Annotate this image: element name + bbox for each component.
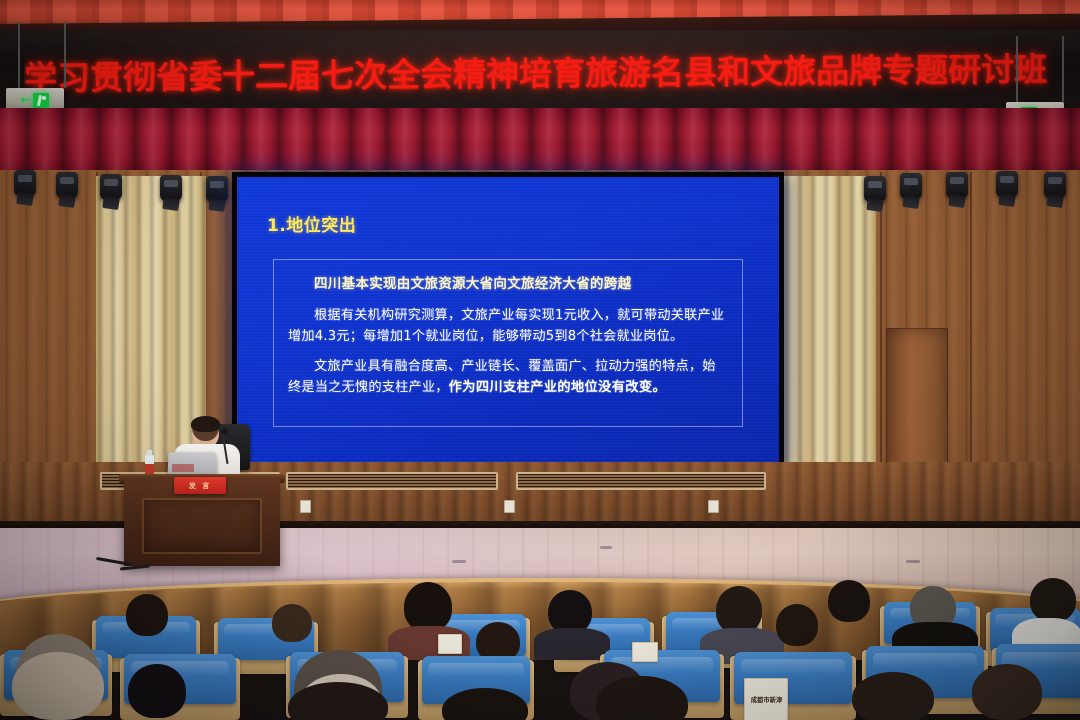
stage-spotlight (100, 174, 122, 200)
stage-spotlight (206, 176, 228, 202)
seat-name-card (632, 642, 658, 662)
floor-marking (600, 546, 612, 549)
exit-sign-left-hanger-b (64, 22, 66, 88)
seat-name-card-label: 成都市新津 (750, 696, 782, 705)
stage-spotlight (864, 176, 886, 202)
led-screen-frame: 1.地位突出 四川基本实现由文旅资源大省向文旅经济大省的跨越 根据有关机构研究测… (232, 172, 784, 470)
running-man-icon (33, 93, 49, 108)
side-curtain-left (96, 176, 206, 476)
stage-spotlight (1044, 172, 1066, 198)
audience-head (776, 604, 818, 646)
seat-name-card: 成都市新津 (744, 678, 788, 720)
banner-title: 学习贯彻省委十二届七次全会精神培育旅游名县和文旅品牌专题研讨班 (24, 37, 1064, 104)
audience-head (716, 586, 762, 634)
stage-spotlight (946, 172, 968, 198)
podium-nameplate-label: 发 言 (189, 481, 211, 491)
audience-head (828, 580, 870, 622)
wall-outlet (708, 500, 719, 513)
audience-head (1030, 578, 1076, 622)
podium-front-panel (142, 498, 262, 554)
exit-sign-right-hanger-a (1016, 36, 1018, 102)
stage-spotlight (56, 172, 78, 198)
speaker-hair (191, 416, 220, 432)
audience-head (972, 664, 1042, 720)
slide-paragraph-1: 根据有关机构研究测算，文旅产业每实现1元收入，就可带动关联产业增加4.3元；每增… (288, 305, 728, 348)
exit-sign-left-hanger-a (18, 22, 20, 88)
auditorium-photo: 学习贯彻省委十二届七次全会精神培育旅游名县和文旅品牌专题研讨班 ← → (0, 0, 1080, 720)
audience-head (126, 594, 168, 636)
slide-subheading: 四川基本实现由文旅资源大省向文旅经济大省的跨越 (288, 272, 728, 292)
audience-head (404, 582, 452, 632)
wall-outlet (300, 500, 311, 513)
slide-content-box: 四川基本实现由文旅资源大省向文旅经济大省的跨越 根据有关机构研究测算，文旅产业每… (273, 259, 743, 427)
ventilation-grille (286, 472, 498, 490)
stage-spotlight (14, 170, 36, 196)
slide-paragraph-2-bold: 作为四川支柱产业的地位没有改变。 (449, 380, 666, 395)
microphone-icon (221, 428, 228, 435)
audience-shoulders (534, 628, 610, 660)
stage-spotlight (996, 171, 1018, 197)
audience-head (12, 652, 104, 720)
seat-name-card (438, 634, 462, 654)
slide-title: 1.地位突出 (267, 211, 356, 236)
ventilation-grille (516, 472, 766, 490)
stage-spotlight (160, 175, 182, 201)
audience-seating: 成都市新津 (0, 556, 1080, 720)
arrow-left-icon: ← (21, 94, 32, 107)
audience-head (128, 664, 186, 718)
presentation-slide: 1.地位突出 四川基本实现由文旅资源大省向文旅经济大省的跨越 根据有关机构研究测… (237, 177, 779, 465)
podium-nameplate: 发 言 (174, 477, 226, 494)
audience-head (852, 672, 934, 720)
exit-sign-right-hanger-b (1062, 36, 1064, 102)
slide-paragraph-2: 文旅产业具有融合度高、产业链长、覆盖面广、拉动力强的特点，始终是当之无愧的支柱产… (288, 356, 728, 399)
wall-outlet (504, 500, 515, 513)
stage-spotlight (900, 173, 922, 199)
audience-head (272, 604, 312, 642)
